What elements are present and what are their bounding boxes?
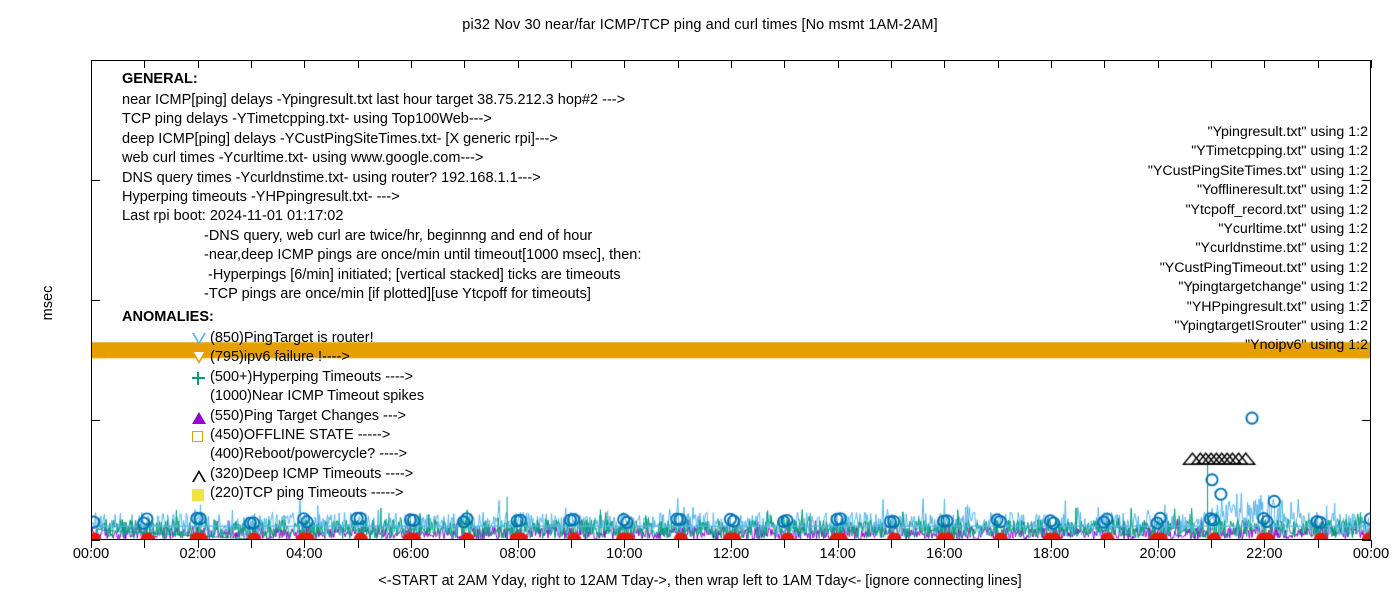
x-tick-mark xyxy=(1371,540,1372,548)
legend-entry[interactable]: "Ypingresult.txt" using 1:2 xyxy=(1032,123,1371,142)
legend-entry[interactable]: "Ytcpoff_record.txt" using 1:2 xyxy=(1032,201,1371,220)
x-tick-label: 12:00 xyxy=(713,546,749,562)
legend-label: "Yofflineresult.txt" using 1:2 xyxy=(1197,181,1368,200)
y-axis-label: msec xyxy=(40,243,56,363)
x-tick-label: 04:00 xyxy=(286,546,322,562)
legend-label: "Ytcpoff_record.txt" using 1:2 xyxy=(1185,201,1368,220)
anomaly-marker-triangle-up-open xyxy=(192,470,206,482)
x-tick-mark xyxy=(1371,60,1372,68)
legend-entry[interactable]: "Ycurltime.txt" using 1:2 xyxy=(1032,220,1371,239)
anomaly-label: (220)TCP ping Timeouts -----> xyxy=(210,486,404,501)
anomaly-marker-triangle-down-open xyxy=(192,333,206,345)
x-tick-mark xyxy=(304,540,305,548)
anomaly-marker-triangle-up-filled xyxy=(192,412,206,424)
x-axis-caption: <-START at 2AM Yday, right to 12AM Tday-… xyxy=(0,573,1400,589)
x-tick-label: 18:00 xyxy=(1033,546,1069,562)
legend-key xyxy=(1368,298,1371,317)
legend-label: "YpingtargetISrouter" using 1:2 xyxy=(1174,317,1368,336)
x-tick-mark xyxy=(1264,540,1265,548)
legend-key xyxy=(1368,142,1371,161)
general-line: Hyperping timeouts -YHPpingresult.txt- -… xyxy=(122,190,400,205)
legend-entry[interactable]: "Yofflineresult.txt" using 1:2 xyxy=(1032,181,1371,200)
anomaly-marker-square-filled xyxy=(192,489,204,501)
x-tick-mark xyxy=(251,540,252,548)
legend-label: "YHPpingresult.txt" using 1:2 xyxy=(1187,298,1368,317)
x-tick-mark xyxy=(1318,540,1319,548)
legend-entry[interactable]: "YCustPingSiteTimes.txt" using 1:2 xyxy=(1032,162,1371,181)
legend-label: "Ycurldnstime.txt" using 1:2 xyxy=(1195,239,1368,258)
x-tick-label: 10:00 xyxy=(606,546,642,562)
x-tick-label: 14:00 xyxy=(820,546,856,562)
anomaly-label: (550)Ping Target Changes ---> xyxy=(210,409,406,424)
legend-label: "Ynoipv6" using 1:2 xyxy=(1245,336,1368,355)
x-tick-mark xyxy=(731,540,732,548)
x-tick-label: 22:00 xyxy=(1246,546,1282,562)
x-tick-mark xyxy=(998,540,999,548)
x-tick-mark xyxy=(358,540,359,548)
x-tick-mark xyxy=(1104,540,1105,548)
general-line: TCP ping delays -YTimetcpping.txt- using… xyxy=(122,112,492,127)
legend-key xyxy=(1368,336,1371,355)
anomaly-label: (795)ipv6 failure !----> xyxy=(210,350,350,365)
y-tick-mark xyxy=(1362,540,1371,541)
legend-entry[interactable]: "Ynoipv6" using 1:2 xyxy=(1032,336,1371,355)
y-tick-mark xyxy=(91,540,100,541)
anomaly-label: (850)PingTarget is router! xyxy=(210,331,374,346)
general-line: near ICMP[ping] delays -Ypingresult.txt … xyxy=(122,93,625,108)
general-note: -Hyperpings [6/min] initiated; [vertical… xyxy=(204,268,621,283)
x-tick-mark xyxy=(91,540,92,548)
legend-label: "YCustPingTimeout.txt" using 1:2 xyxy=(1160,259,1368,278)
anomaly-marker-square-open xyxy=(192,431,203,442)
x-tick-label: 00:00 xyxy=(73,546,109,562)
x-tick-label: 02:00 xyxy=(180,546,216,562)
legend-entry[interactable]: "YTimetcpping.txt" using 1:2 xyxy=(1032,142,1371,161)
x-tick-mark xyxy=(571,540,572,548)
general-line: Last rpi boot: 2024-11-01 01:17:02 xyxy=(122,209,343,224)
legend-key xyxy=(1368,278,1371,297)
legend-key xyxy=(1368,162,1371,181)
anomaly-label: (320)Deep ICMP Timeouts ----> xyxy=(210,467,413,482)
plot-area: GENERAL:near ICMP[ping] delays -Ypingres… xyxy=(91,60,1371,540)
general-line: web curl times -Ycurltime.txt- using www… xyxy=(122,151,483,166)
anomaly-marker-triangle-down-open-orange xyxy=(192,352,206,364)
chart-title: pi32 Nov 30 near/far ICMP/TCP ping and c… xyxy=(0,17,1400,33)
legend-entry[interactable]: "YHPpingresult.txt" using 1:2 xyxy=(1032,298,1371,317)
anomalies-heading: ANOMALIES: xyxy=(122,310,214,325)
x-tick-mark xyxy=(518,540,519,548)
x-tick-label: 06:00 xyxy=(393,546,429,562)
x-tick-mark xyxy=(144,540,145,548)
general-line: DNS query times -Ycurldnstime.txt- using… xyxy=(122,171,541,186)
x-tick-mark xyxy=(1211,540,1212,548)
legend: "Ypingresult.txt" using 1:2"YTimetcpping… xyxy=(1032,123,1371,356)
legend-entry[interactable]: "YpingtargetISrouter" using 1:2 xyxy=(1032,317,1371,336)
x-tick-label: 16:00 xyxy=(926,546,962,562)
general-line: deep ICMP[ping] delays -YCustPingSiteTim… xyxy=(122,132,558,147)
legend-key xyxy=(1368,201,1371,220)
legend-key xyxy=(1368,239,1371,258)
legend-label: "YTimetcpping.txt" using 1:2 xyxy=(1191,142,1368,161)
legend-entry[interactable]: "YCustPingTimeout.txt" using 1:2 xyxy=(1032,259,1371,278)
legend-key xyxy=(1368,181,1371,200)
x-tick-label: 00:00 xyxy=(1353,546,1389,562)
legend-entry[interactable]: "Ycurldnstime.txt" using 1:2 xyxy=(1032,239,1371,258)
legend-label: "Ycurltime.txt" using 1:2 xyxy=(1218,220,1368,239)
legend-entry[interactable]: "Ypingtargetchange" using 1:2 xyxy=(1032,278,1371,297)
general-note: -TCP pings are once/min [if plotted][use… xyxy=(204,287,591,302)
anomaly-label: (400)Reboot/powercycle? ----> xyxy=(210,447,407,462)
x-tick-label: 08:00 xyxy=(500,546,536,562)
legend-line-swatch xyxy=(1370,132,1371,133)
legend-label: "YCustPingSiteTimes.txt" using 1:2 xyxy=(1148,162,1368,181)
x-tick-mark xyxy=(198,540,199,548)
x-tick-mark xyxy=(944,540,945,548)
legend-line-swatch xyxy=(1370,151,1371,152)
legend-line-swatch xyxy=(1370,171,1371,172)
general-note: -near,deep ICMP pings are once/min until… xyxy=(204,248,641,263)
x-tick-mark xyxy=(784,540,785,548)
legend-key xyxy=(1368,123,1371,142)
x-tick-mark xyxy=(891,540,892,548)
x-tick-mark xyxy=(411,540,412,548)
legend-label: "Ypingresult.txt" using 1:2 xyxy=(1208,123,1368,142)
anomaly-label: (1000)Near ICMP Timeout spikes xyxy=(210,389,424,404)
legend-key xyxy=(1368,259,1371,278)
x-tick-mark xyxy=(838,540,839,548)
anomaly-label: (500+)Hyperping Timeouts ----> xyxy=(210,370,413,385)
legend-key xyxy=(1368,220,1371,239)
x-tick-label: 20:00 xyxy=(1140,546,1176,562)
general-note: -DNS query, web curl are twice/hr, begin… xyxy=(204,229,592,244)
x-tick-mark xyxy=(624,540,625,548)
anomaly-label: (450)OFFLINE STATE -----> xyxy=(210,428,390,443)
chart-page: pi32 Nov 30 near/far ICMP/TCP ping and c… xyxy=(0,0,1400,600)
legend-label: "Ypingtargetchange" using 1:2 xyxy=(1178,278,1368,297)
general-heading: GENERAL: xyxy=(122,72,198,87)
anomaly-marker-plus xyxy=(192,372,205,385)
x-tick-mark xyxy=(464,540,465,548)
x-tick-mark xyxy=(1158,540,1159,548)
legend-key xyxy=(1368,317,1371,336)
x-tick-mark xyxy=(1051,540,1052,548)
x-tick-mark xyxy=(678,540,679,548)
